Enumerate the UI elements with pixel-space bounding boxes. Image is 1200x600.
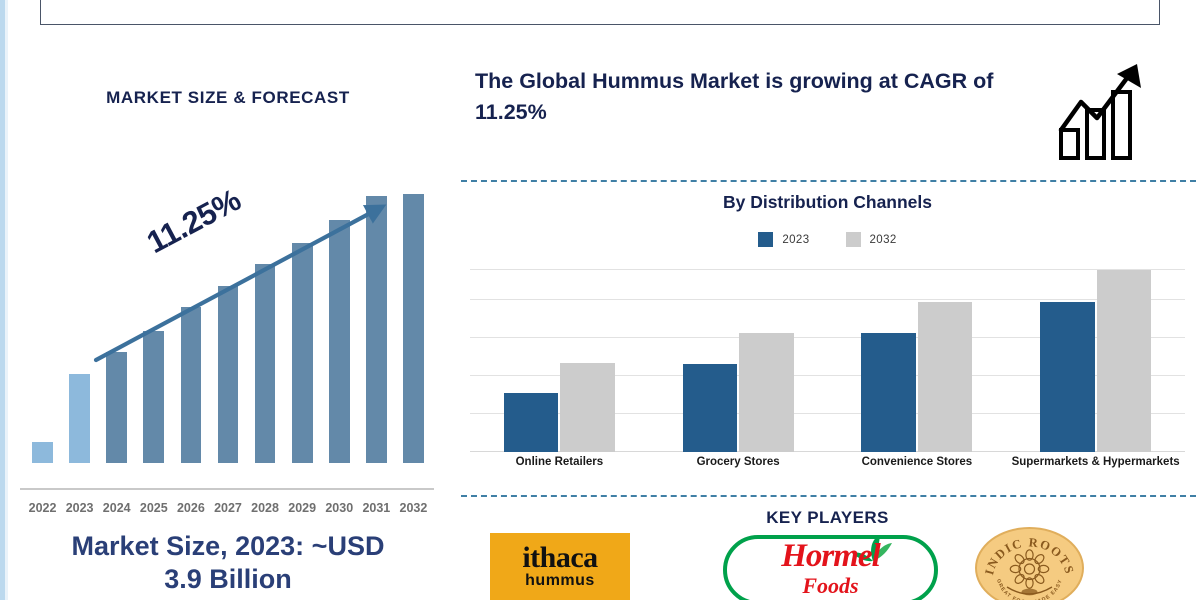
tick-label-2032: 2032 [395,501,432,515]
bar-GroceryStores-2023 [683,364,738,452]
logo-ithaca-hummus[interactable]: ithaca hummus [490,533,630,600]
gridline-3 [470,299,1185,300]
bar-chart-growth-icon [1055,58,1155,163]
market-size-line-1: Market Size, 2023: ~USD [72,531,385,561]
legend-swatch-2032 [846,232,861,247]
tick-label-2028: 2028 [247,501,284,515]
tick-label-2030: 2030 [321,501,358,515]
category-label-GroceryStores: Grocery Stores [649,455,828,469]
distribution-channels-chart [470,262,1185,452]
bar-2027 [218,286,239,463]
market-size-heading: MARKET SIZE & FORECAST [8,88,448,108]
divider-top [461,180,1196,182]
bar-ConvenienceStores-2023 [861,333,916,452]
tick-label-2023: 2023 [61,501,98,515]
bar-2022 [32,442,53,463]
bar-2030 [329,220,350,463]
divider-bottom [461,495,1196,497]
hormel-wordmark: Hormel [713,540,948,573]
infographic-page: Global Hummus Market MARKET SIZE & FOREC… [0,0,1200,600]
tick-label-2029: 2029 [284,501,321,515]
bar-2032 [403,194,424,463]
category-label-OnlineRetailers: Online Retailers [470,455,649,469]
category-label-ConvenienceStores: Convenience Stores [828,455,1007,469]
logo-hormel-foods[interactable]: Hormel Foods [713,533,948,600]
bar-GroceryStores-2032 [739,333,794,452]
market-size-value: Market Size, 2023: ~USD 3.9 Billion [8,530,448,596]
cagr-statement: The Global Hummus Market is growing at C… [475,66,1035,127]
left-chart-bars [16,189,440,489]
bar-2029 [292,243,313,463]
distribution-chart-title: By Distribution Channels [455,192,1200,213]
legend-item-2023[interactable]: 2023 [758,232,809,247]
tick-label-2027: 2027 [209,501,246,515]
bar-2031 [366,196,387,463]
key-players-logos: ithaca hummus Hormel Foods [455,533,1200,600]
tick-label-2022: 2022 [24,501,61,515]
left-chart-tick-labels: 2022202320242025202620272028202920302031… [16,493,440,515]
market-size-panel: MARKET SIZE & FORECAST 20222023202420252… [8,30,448,600]
bar-2026 [181,307,202,463]
bar-2023 [69,374,90,463]
bar-SupermarketsHypermarkets-2032 [1097,270,1152,452]
indic-roots-mark: INDIC ROOTS GREAT FOOD MADE EASY [977,529,1082,600]
bar-ConvenienceStores-2032 [918,302,973,452]
bar-SupermarketsHypermarkets-2023 [1040,302,1095,452]
bar-OnlineRetailers-2032 [560,363,615,452]
gridline-4 [470,269,1185,270]
bar-2024 [106,352,127,463]
category-label-SupermarketsHypermarkets: Supermarkets & Hypermarkets [1006,455,1185,469]
tick-label-2026: 2026 [172,501,209,515]
hormel-subtitle: Foods [713,575,948,597]
market-size-line-2: 3.9 Billion [164,564,292,594]
legend-swatch-2023 [758,232,773,247]
logo-indic-roots[interactable]: INDIC ROOTS GREAT FOOD MADE EASY [975,533,1080,600]
market-size-forecast-chart: 2022202320242025202620272028202920302031… [16,180,440,515]
distribution-chart-category-labels: Online RetailersGrocery StoresConvenienc… [470,455,1185,493]
legend-label-2032: 2032 [870,234,897,246]
bar-2028 [255,264,276,463]
legend-label-2023: 2023 [782,234,809,246]
indic-roots-badge: INDIC ROOTS GREAT FOOD MADE EASY [975,527,1084,600]
tick-label-2024: 2024 [98,501,135,515]
legend-item-2032[interactable]: 2032 [846,232,897,247]
tick-label-2025: 2025 [135,501,172,515]
ithaca-wordmark: ithaca [522,544,597,573]
svg-text:INDIC ROOTS: INDIC ROOTS [982,535,1077,576]
tick-label-2031: 2031 [358,501,395,515]
ithaca-subtitle: hummus [525,573,595,589]
bar-OnlineRetailers-2023 [504,393,559,452]
right-panel: The Global Hummus Market is growing at C… [455,0,1200,600]
distribution-chart-legend: 20232032 [455,232,1200,247]
bar-2025 [143,331,164,463]
key-players-title: KEY PLAYERS [455,508,1200,528]
